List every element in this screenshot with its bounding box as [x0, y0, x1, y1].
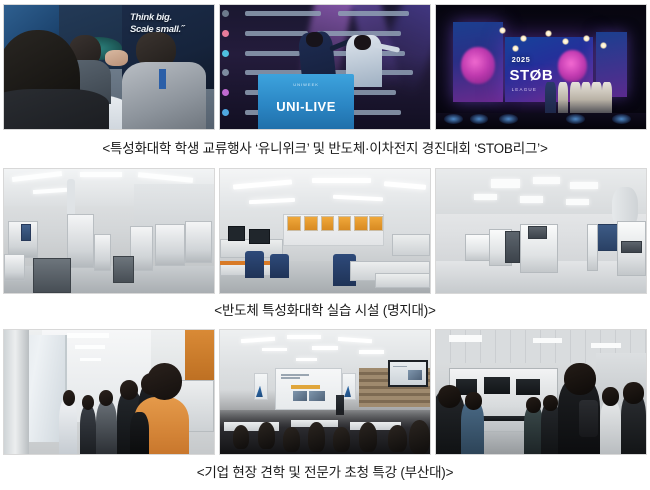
orange-wall-panel [185, 330, 214, 382]
lab-ceiling [220, 169, 430, 211]
ceiling-light [312, 346, 337, 350]
lab-equipment [185, 221, 212, 263]
lab-equipment [94, 234, 111, 271]
roll-up-banner [342, 373, 357, 400]
furnace-window [304, 216, 318, 231]
figure-caption-2: <반도체 특성화대학 실습 시설 (명지대)> [3, 294, 647, 329]
ceiling-light [533, 338, 562, 343]
stage-lamp [583, 35, 590, 42]
monitor [249, 229, 270, 244]
monitor [228, 226, 245, 241]
ceiling-light-panel [570, 182, 597, 189]
furnace-window [287, 216, 301, 231]
ceiling-light [80, 172, 122, 177]
photo-cleanroom-wide[interactable] [3, 168, 215, 294]
award-person [570, 82, 581, 114]
stage-floor-glow [499, 114, 518, 124]
photo-uniweek-booth[interactable]: Think big. Scale small.˝ [3, 4, 215, 130]
figure-caption-3: <기업 현장 견학 및 전문가 초청 특강 (부산대)> [3, 455, 647, 485]
ceiling-light [449, 335, 483, 341]
audience-head [333, 427, 350, 452]
backpack-strap [130, 412, 149, 454]
metal-column [4, 330, 29, 454]
ceiling-light-panel [566, 199, 589, 205]
photo-stob-league-stage[interactable]: 2025 STØB LEAGUE [435, 4, 647, 130]
audience-head [359, 422, 378, 452]
ceiling-light [287, 335, 321, 339]
figure-caption-1: <특성화대학 학생 교류행사 ‘유니위크’ 및 반도체·이차전지 경진대회 ‘S… [3, 130, 647, 168]
tour-person-head [99, 390, 114, 406]
visitor-head [543, 395, 558, 411]
cabinet [392, 234, 430, 256]
monitor-station [33, 258, 71, 293]
audience-head [283, 427, 300, 452]
ceiling-light [80, 358, 101, 362]
photo-site-tour-corridor[interactable] [3, 329, 215, 455]
process-tool [505, 231, 520, 263]
furnace-window [338, 216, 352, 231]
award-person [581, 82, 592, 114]
tool-control-panel [528, 226, 547, 238]
photo-equipment-briefing[interactable] [435, 329, 647, 455]
tour-person-head [82, 395, 95, 410]
audience-head [409, 420, 430, 455]
process-tool [587, 224, 598, 271]
ceiling-light [75, 345, 104, 349]
audience-head [308, 422, 325, 452]
student-foreground-body [3, 89, 109, 130]
led-graphic-left [461, 47, 495, 84]
ceiling-light [67, 333, 109, 338]
led-graphic-center [558, 50, 587, 82]
ceiling-light-panel [474, 194, 497, 200]
podium-subtitle: UNIWEEK [258, 82, 355, 87]
visitor-head [623, 382, 644, 403]
award-person [558, 82, 569, 114]
ceiling-light-panel [533, 177, 560, 184]
award-person [602, 82, 613, 114]
photo-invited-lecture[interactable] [219, 329, 431, 455]
photo-grid-page: Think big. Scale small.˝ [0, 0, 650, 490]
figure-block-1: Think big. Scale small.˝ [3, 4, 647, 168]
tool-control-panel [621, 241, 642, 253]
projection-screen [275, 368, 342, 410]
stob-year-text: 2025 [512, 55, 531, 64]
ceiling-light [591, 343, 620, 348]
host-left-head [306, 32, 323, 47]
lab-equipment [155, 224, 184, 266]
tour-person-head [120, 380, 139, 400]
gesturing-hand [105, 50, 128, 66]
figure-block-3: <기업 현장 견학 및 전문가 초청 특강 (부산대)> [3, 329, 647, 485]
ceiling-light [312, 178, 371, 183]
ceiling-light [262, 348, 287, 352]
backpack [579, 400, 598, 437]
stage-lamp [600, 42, 607, 49]
lanyard [159, 69, 165, 89]
lab-chair [270, 254, 289, 279]
award-person [545, 82, 556, 114]
staff-head [465, 392, 482, 409]
photo-fab-equipment-bay[interactable] [435, 168, 647, 294]
ceiling-light-panel [491, 179, 520, 188]
stage-lamp [499, 27, 506, 34]
process-tool [465, 234, 490, 261]
podium-title: UNI-LIVE [258, 99, 355, 114]
furnace-window [354, 216, 368, 231]
stob-subtitle-text: LEAGUE [512, 87, 537, 92]
audience-head [388, 425, 407, 452]
lab-chair [245, 251, 264, 278]
figure-block-2: <반도체 특성화대학 실습 시설 (명지대)> [3, 168, 647, 329]
lab-bench [4, 254, 25, 281]
visitor-person [600, 400, 621, 455]
furnace-window [369, 216, 383, 231]
stage-lamp [512, 45, 519, 52]
instrument-case [375, 273, 430, 288]
roll-up-banner [254, 373, 269, 400]
photo-row-3 [3, 329, 647, 455]
ceiling-light-panel [520, 196, 543, 202]
photo-row-2 [3, 168, 647, 294]
furnace-window [321, 216, 335, 231]
wall-monitor [388, 360, 428, 387]
stage-floor-glow [566, 114, 585, 124]
photo-lab-furnaces[interactable] [219, 168, 431, 294]
lab-equipment [21, 224, 32, 241]
ceiling-light [296, 358, 317, 362]
stage-lamp [520, 35, 527, 42]
host-right-head [354, 35, 371, 50]
ceiling-light [359, 350, 384, 354]
lab-equipment [113, 256, 134, 283]
award-person [591, 82, 602, 114]
photo-unilive-stage[interactable]: UNIWEEK UNI-LIVE [219, 4, 431, 130]
stage-lamp [545, 30, 552, 37]
tour-person [96, 400, 117, 455]
photo-row-1: Think big. Scale small.˝ [3, 4, 647, 130]
tour-person [80, 405, 97, 455]
audience-head [258, 422, 275, 449]
visitor-head [602, 387, 619, 406]
tour-person-foreground-head [147, 363, 183, 400]
audience-head [233, 425, 250, 450]
visitor-head-foreground [564, 363, 596, 395]
